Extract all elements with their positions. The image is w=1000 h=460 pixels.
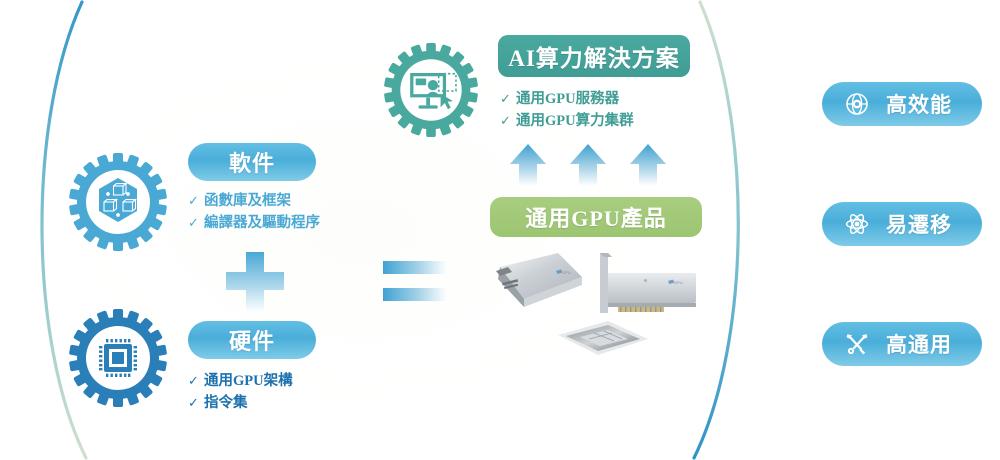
check-icon: ✓	[500, 88, 516, 110]
check-icon: ✓	[500, 110, 516, 132]
list-item-label: 通用GPU架構	[204, 370, 293, 392]
list-item: ✓ 函數庫及框架	[188, 190, 320, 212]
gpu-product-badge[interactable]: 通用GPU產品	[490, 197, 702, 237]
feature-label: 高通用	[886, 329, 952, 359]
ai-solution-bullet-list: ✓ 通用GPU服務器 ✓ 通用GPU算力集群	[500, 88, 634, 132]
ai-solution-gear-icon	[383, 42, 479, 143]
gpu-product-images: GPU	[462, 243, 706, 374]
hardware-bullet-list: ✓ 通用GPU架構 ✓ 指令集	[188, 370, 293, 414]
check-icon: ✓	[188, 212, 204, 234]
hardware-title-badge[interactable]: 硬件	[188, 321, 316, 359]
list-item-label: 函數庫及框架	[204, 190, 291, 212]
globe-grid-icon	[844, 91, 870, 117]
gpu-chip-die	[558, 321, 648, 355]
hardware-title-label: 硬件	[229, 324, 275, 356]
feature-badge-performance[interactable]: 高效能	[822, 82, 982, 126]
software-title-badge[interactable]: 軟件	[188, 143, 316, 181]
check-icon: ✓	[188, 392, 204, 414]
ai-solution-title-badge[interactable]: AI算力解決方案	[498, 35, 690, 77]
ai-solution-title-label: AI算力解決方案	[508, 39, 680, 73]
plus-symbol-icon	[222, 250, 288, 319]
atom-icon	[844, 211, 870, 237]
list-item-label: 通用GPU服務器	[516, 88, 619, 110]
list-item: ✓ 編譯器及驅動程序	[188, 212, 320, 234]
feature-badge-migration[interactable]: 易遷移	[822, 202, 982, 246]
hardware-gear-icon	[68, 308, 168, 413]
equals-symbol-icon	[382, 258, 448, 311]
software-gear-icon	[68, 152, 168, 257]
check-icon: ✓	[188, 190, 204, 212]
list-item-label: 指令集	[204, 392, 248, 414]
list-item: ✓ 指令集	[188, 392, 293, 414]
gpu-card-oam: GPU	[496, 253, 582, 307]
list-item: ✓ 通用GPU服務器	[500, 88, 634, 110]
software-bullet-list: ✓ 函數庫及框架 ✓ 編譯器及驅動程序	[188, 190, 320, 234]
check-icon: ✓	[188, 370, 204, 392]
gpu-card-pcie: GPU	[600, 253, 696, 313]
software-title-label: 軟件	[229, 146, 275, 178]
feature-label: 易遷移	[886, 209, 952, 239]
feature-label: 高效能	[886, 89, 952, 119]
svg-text:GPU: GPU	[674, 280, 683, 285]
list-item: ✓ 通用GPU架構	[188, 370, 293, 392]
upward-arrows-icon	[508, 142, 668, 195]
wrench-screwdriver-icon	[844, 331, 870, 357]
list-item: ✓ 通用GPU算力集群	[500, 110, 634, 132]
infographic-canvas: 軟件 ✓ 函數庫及框架 ✓ 編譯器及驅動程序 硬件 ✓ 通用GPU架構 ✓ 指令…	[0, 0, 1000, 460]
list-item-label: 通用GPU算力集群	[516, 110, 634, 132]
gpu-product-label: 通用GPU產品	[525, 201, 666, 233]
list-item-label: 編譯器及驅動程序	[204, 212, 320, 234]
feature-badge-versatility[interactable]: 高通用	[822, 322, 982, 366]
svg-text:GPU: GPU	[562, 270, 571, 275]
